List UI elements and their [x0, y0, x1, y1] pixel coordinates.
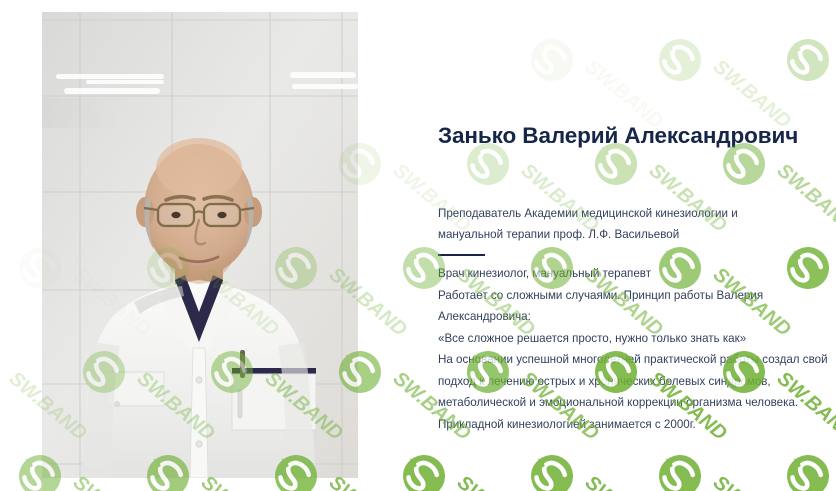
profile-subtitle: Преподаватель Академии медицинской кинез…: [438, 203, 790, 245]
watermark-text: SW.BAND: [0, 472, 27, 491]
bio-line: «Все сложное решается просто, нужно толь…: [438, 328, 804, 350]
page-title: Занько Валерий Александрович: [438, 122, 810, 149]
bio-line: Александровича:: [438, 306, 804, 328]
bio-line: метаболической и эмоциональной коррекции…: [438, 392, 804, 414]
photo-image: [42, 12, 358, 478]
bio-line: Работает со сложными случаями. Принцип р…: [438, 285, 804, 307]
bio-line: подход к лечению острых и хронических бо…: [438, 371, 804, 393]
profile-bio: Врач кинезиолог, мануальный терапевт Раб…: [438, 263, 804, 435]
watermark-logo-icon: [0, 342, 6, 402]
section-divider: [438, 254, 485, 256]
profile-photo: [42, 12, 358, 478]
bio-line: На основании успешной многолетней практи…: [438, 349, 804, 371]
bio-line: Прикладной кинезиологией занимается с 20…: [438, 414, 804, 436]
watermark-tile: SW.BAND: [0, 438, 27, 491]
profile-page: Занько Валерий Александрович Преподавате…: [0, 0, 836, 491]
profile-info: Занько Валерий Александрович Преподавате…: [438, 0, 810, 491]
bio-line: Врач кинезиолог, мануальный терапевт: [438, 263, 804, 285]
